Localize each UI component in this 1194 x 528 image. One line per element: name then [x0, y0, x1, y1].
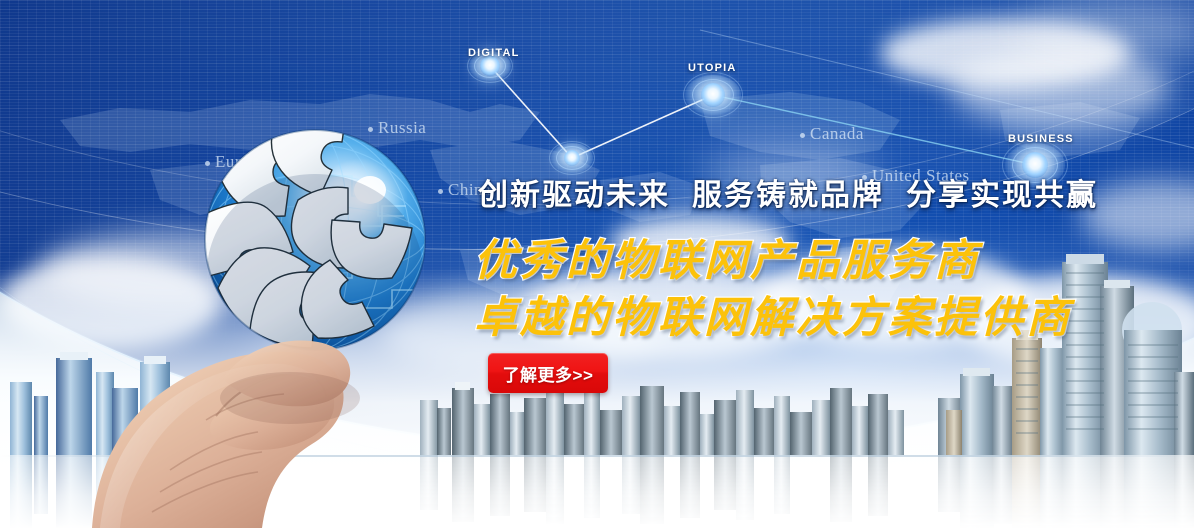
banner-copy: 创新驱动未来服务铸就品牌分享实现共赢 优秀的物联网产品服务商 卓越的物联网解决方…	[0, 0, 1194, 528]
headline-segment-1: 创新驱动未来	[478, 179, 670, 212]
learn-more-button-label: 了解更多>>	[503, 361, 594, 386]
gold-tagline-2: 卓越的物联网解决方案提供商	[474, 283, 1072, 345]
headline-text: 创新驱动未来服务铸就品牌分享实现共赢	[478, 170, 1098, 214]
hero-banner: Russia Europe China Canada United States…	[0, 0, 1194, 528]
headline-segment-3: 分享实现共赢	[906, 179, 1098, 212]
learn-more-button[interactable]: 了解更多>>	[488, 353, 608, 393]
headline-segment-2: 服务铸就品牌	[692, 179, 884, 212]
gold-tagline-1: 优秀的物联网产品服务商	[474, 226, 980, 288]
